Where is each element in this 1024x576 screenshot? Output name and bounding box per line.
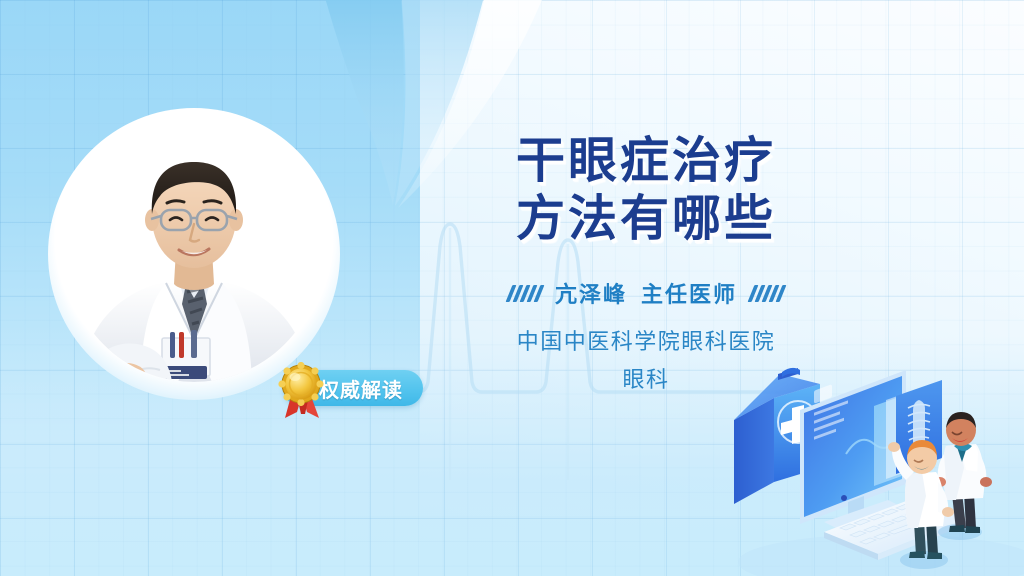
- status-badge: 权威解读: [283, 369, 423, 407]
- doctor-name: 亢泽峰: [555, 277, 627, 309]
- gold-medal-icon: [277, 362, 329, 418]
- department-name: 眼科: [440, 362, 852, 400]
- video-thumbnail-poster: 权威解读: [0, 0, 1024, 576]
- title-line-1: 干眼症治疗: [466, 132, 826, 190]
- doctor-byline: 亢泽峰 主任医师: [440, 277, 852, 309]
- doctor-portrait-illustration: [66, 126, 322, 382]
- badge-label: 权威解读: [319, 374, 403, 403]
- affiliation-block: 中国中医科学院眼科医院 眼科: [440, 324, 852, 400]
- doctor-portrait: [66, 126, 322, 382]
- page-title: 干眼症治疗 方法有哪些: [466, 132, 826, 249]
- doctor-title: 主任医师: [641, 277, 737, 309]
- slash-decoration-right: [751, 285, 783, 302]
- hospital-name: 中国中医科学院眼科医院: [440, 324, 852, 362]
- title-line-2: 方法有哪些: [466, 190, 826, 248]
- slash-decoration-left: [509, 285, 541, 302]
